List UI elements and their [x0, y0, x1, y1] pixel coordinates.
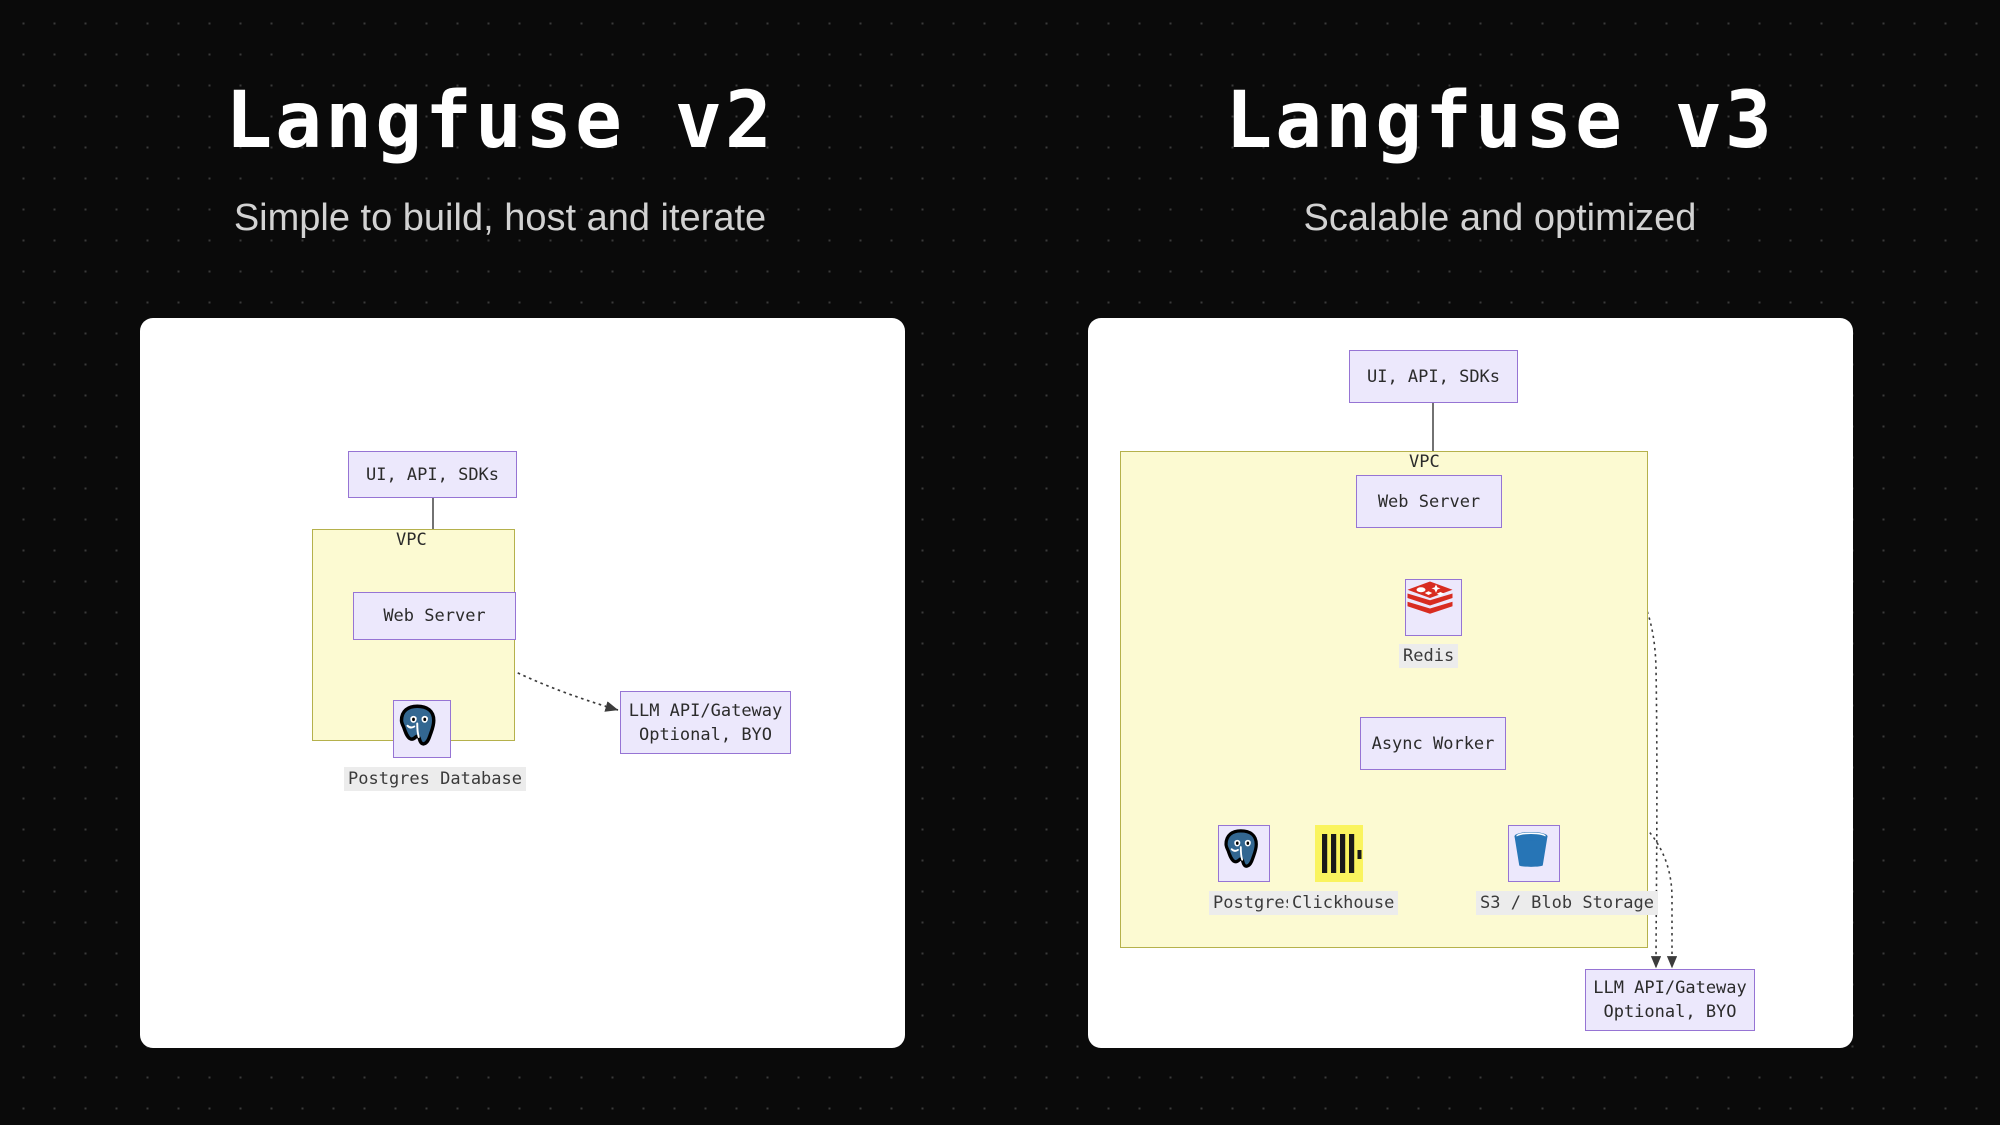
column-v3: Langfuse v3 Scalable and optimized — [1000, 0, 2000, 1125]
label-postgres-database: Postgres Database — [344, 767, 526, 791]
vpc-label-v3: VPC — [1409, 452, 1440, 472]
node-web-server[interactable]: Web Server — [353, 592, 516, 640]
postgres-elephant-icon — [394, 701, 442, 749]
node-ui-api-sdks[interactable]: UI, API, SDKs — [1349, 350, 1518, 403]
subtitle-v2: Simple to build, host and iterate — [0, 196, 1000, 240]
title-v2: Langfuse v2 — [0, 78, 1000, 164]
node-ui-api-sdks[interactable]: UI, API, SDKs — [348, 451, 517, 498]
postgres-elephant-icon — [1219, 826, 1264, 871]
node-llm-api-gateway[interactable]: LLM API/Gateway Optional, BYO — [620, 691, 791, 754]
node-clickhouse[interactable] — [1315, 825, 1363, 882]
node-postgres-database[interactable] — [393, 700, 451, 758]
diagram-v3: VPC UI, API, SDKs Web Server — [1088, 318, 1853, 1048]
diagram-panel-v3: VPC UI, API, SDKs Web Server — [1088, 318, 1853, 1048]
redis-stack-icon — [1406, 580, 1454, 622]
label-redis: Redis — [1399, 644, 1458, 668]
title-v3: Langfuse v3 — [1000, 78, 2000, 164]
s3-bucket-icon — [1509, 826, 1553, 870]
label-clickhouse: Clickhouse — [1288, 891, 1398, 915]
diagram-v2: VPC UI, API, SDKs Web Server — [140, 318, 905, 1048]
column-v2: Langfuse v2 Simple to build, host and it… — [0, 0, 1000, 1125]
node-postgres[interactable] — [1218, 825, 1270, 882]
node-redis[interactable] — [1405, 579, 1462, 636]
clickhouse-bars-icon — [1315, 825, 1363, 882]
node-web-server[interactable]: Web Server — [1356, 475, 1502, 528]
label-s3-blob-storage: S3 / Blob Storage — [1476, 891, 1658, 915]
subtitle-v3: Scalable and optimized — [1000, 196, 2000, 240]
node-s3-blob-storage[interactable] — [1508, 825, 1560, 882]
vpc-label-v2: VPC — [396, 530, 427, 550]
diagram-panel-v2: VPC UI, API, SDKs Web Server — [140, 318, 905, 1048]
label-postgres: Postgres — [1209, 891, 1299, 915]
node-llm-api-gateway[interactable]: LLM API/Gateway Optional, BYO — [1585, 969, 1755, 1031]
node-async-worker[interactable]: Async Worker — [1360, 717, 1506, 770]
diagram-edges-v2 — [140, 318, 905, 1048]
